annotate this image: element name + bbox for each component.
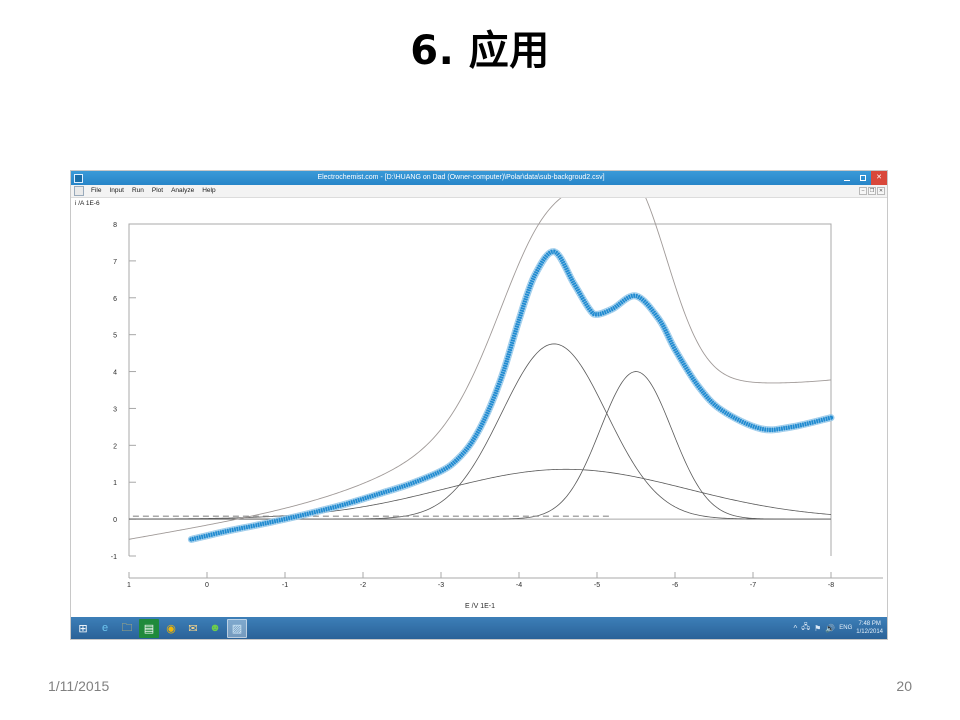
component-peak-2	[129, 372, 831, 520]
data-series-halo	[191, 252, 831, 540]
application-screenshot: Electrochemist.com - [D:\HUANG on Dad (O…	[70, 170, 888, 640]
slide-page-number: 20	[896, 678, 912, 694]
menu-item-plot[interactable]: Plot	[148, 185, 167, 197]
window-restore-button[interactable]	[855, 171, 871, 185]
data-series-curve[interactable]	[191, 252, 831, 540]
menu-item-help[interactable]: Help	[198, 185, 219, 197]
taskbar-icons: ⊞e🗀▤◉✉☻▨	[71, 619, 247, 638]
network-icon[interactable]: 🖧	[801, 621, 810, 635]
y-tick-label: 2	[113, 443, 117, 450]
window-titlebar: Electrochemist.com - [D:\HUANG on Dad (O…	[71, 171, 887, 185]
y-tick-label: 7	[113, 259, 117, 266]
window-close-button[interactable]: ✕	[871, 171, 887, 185]
menu-item-input[interactable]: Input	[105, 185, 127, 197]
menu-item-analyze[interactable]: Analyze	[167, 185, 198, 197]
show-hidden-icons-button[interactable]: ^	[793, 624, 797, 633]
y-tick-label: 5	[113, 333, 117, 340]
clock-time: 7:48 PM	[856, 620, 883, 628]
y-tick-label: 0	[113, 517, 117, 524]
x-tick-label: 0	[205, 582, 209, 589]
app-icon	[74, 174, 83, 183]
x-tick-label: -1	[282, 582, 288, 589]
mdi-close-button[interactable]: ✕	[877, 187, 885, 195]
system-tray: ^ 🖧 ⚑ 🔊 ENG 7:48 PM 1/12/2014	[793, 620, 887, 636]
menu-bar: File Input Run Plot Analyze Help – ❐ ✕	[71, 185, 887, 198]
x-tick-label: -7	[750, 582, 756, 589]
y-tick-label: -1	[111, 554, 117, 561]
language-indicator[interactable]: ENG	[839, 625, 852, 631]
x-tick-label: -6	[672, 582, 678, 589]
y-tick-label: 4	[113, 370, 117, 377]
document-client-area: i /A 1E-6 876543210-110-1-2-3-4-5-6-7-8E…	[71, 198, 887, 621]
flag-icon[interactable]: ⚑	[814, 624, 821, 633]
window-minimize-button[interactable]	[839, 171, 855, 185]
mail-icon[interactable]: ✉	[183, 619, 203, 638]
mdi-window-controls: – ❐ ✕	[859, 187, 885, 195]
data-series-markers	[191, 252, 831, 540]
menu-item-run[interactable]: Run	[128, 185, 148, 197]
x-tick-label: 1	[127, 582, 131, 589]
wechat-icon[interactable]: ☻	[205, 619, 225, 638]
y-tick-label: 1	[113, 480, 117, 487]
electrochemist-app-icon[interactable]: ▨	[227, 619, 247, 638]
plot-frame	[129, 224, 831, 556]
x-tick-label: -3	[438, 582, 444, 589]
mdi-restore-button[interactable]: ❐	[868, 187, 876, 195]
y-tick-label: 8	[113, 222, 117, 229]
y-tick-label: 6	[113, 296, 117, 303]
slide-footer-date: 1/11/2015	[48, 678, 109, 694]
x-tick-label: -2	[360, 582, 366, 589]
file-explorer-icon[interactable]: 🗀	[117, 619, 137, 638]
menu-item-file[interactable]: File	[87, 185, 105, 197]
start-button[interactable]: ⊞	[73, 619, 93, 638]
component-peak-broad	[129, 469, 831, 519]
store-icon[interactable]: ▤	[139, 619, 159, 638]
overall-fit-curve	[129, 198, 831, 539]
x-tick-label: -8	[828, 582, 834, 589]
y-tick-label: 3	[113, 406, 117, 413]
mdi-system-icon[interactable]	[74, 186, 84, 196]
windows-taskbar: ⊞e🗀▤◉✉☻▨ ^ 🖧 ⚑ 🔊 ENG 7:48 PM 1/12/2014	[71, 617, 887, 639]
x-tick-label: -5	[594, 582, 600, 589]
page-title: 6. 应用	[0, 18, 960, 76]
volume-icon[interactable]: 🔊	[825, 624, 835, 633]
chart-svg: 876543210-110-1-2-3-4-5-6-7-8E /V 1E-1	[71, 198, 887, 620]
chrome-icon[interactable]: ◉	[161, 619, 181, 638]
x-tick-label: -4	[516, 582, 522, 589]
clock-date: 1/12/2014	[856, 628, 883, 636]
mdi-minimize-button[interactable]: –	[859, 187, 867, 195]
window-title: Electrochemist.com - [D:\HUANG on Dad (O…	[83, 171, 839, 185]
internet-explorer-icon[interactable]: e	[95, 619, 115, 638]
clock[interactable]: 7:48 PM 1/12/2014	[856, 620, 883, 636]
x-axis-label: E /V 1E-1	[465, 603, 495, 610]
voltammogram-chart[interactable]: 876543210-110-1-2-3-4-5-6-7-8E /V 1E-1	[71, 198, 887, 620]
